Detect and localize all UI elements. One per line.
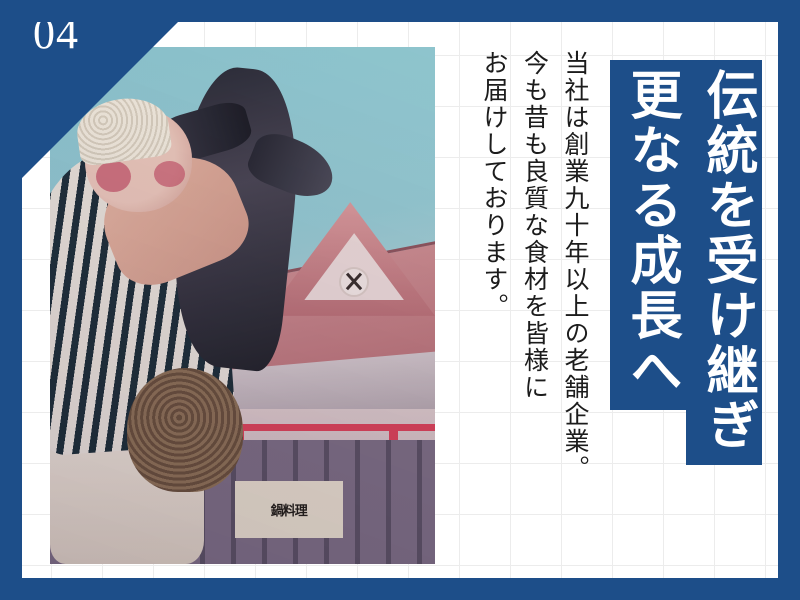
photo-vintage-overlay — [50, 47, 435, 564]
body-column-3: お届けしております。 — [475, 50, 512, 530]
title-column-right: 伝統を受け継ぎ — [686, 60, 762, 465]
frame-top-bar — [0, 0, 800, 22]
frame-bottom-bar — [0, 578, 800, 600]
slide-root: 高川 鍋料理 04 当社は創業九十年以上の老舗企業。 今も昔も良質な食材を皆様に… — [0, 0, 800, 600]
body-text-block: 当社は創業九十年以上の老舗企業。 今も昔も良質な食材を皆様に お届けしております… — [475, 50, 593, 530]
title-block: 伝統を受け継ぎ 更なる成長へ — [610, 60, 762, 465]
title-column-left: 更なる成長へ — [610, 60, 686, 410]
photo-image: 高川 鍋料理 — [50, 47, 435, 564]
body-column-1: 当社は創業九十年以上の老舗企業。 — [556, 50, 593, 530]
frame-right-bar — [778, 0, 800, 600]
frame-left-bar — [0, 0, 22, 600]
body-column-2: 今も昔も良質な食材を皆様に — [515, 50, 552, 530]
